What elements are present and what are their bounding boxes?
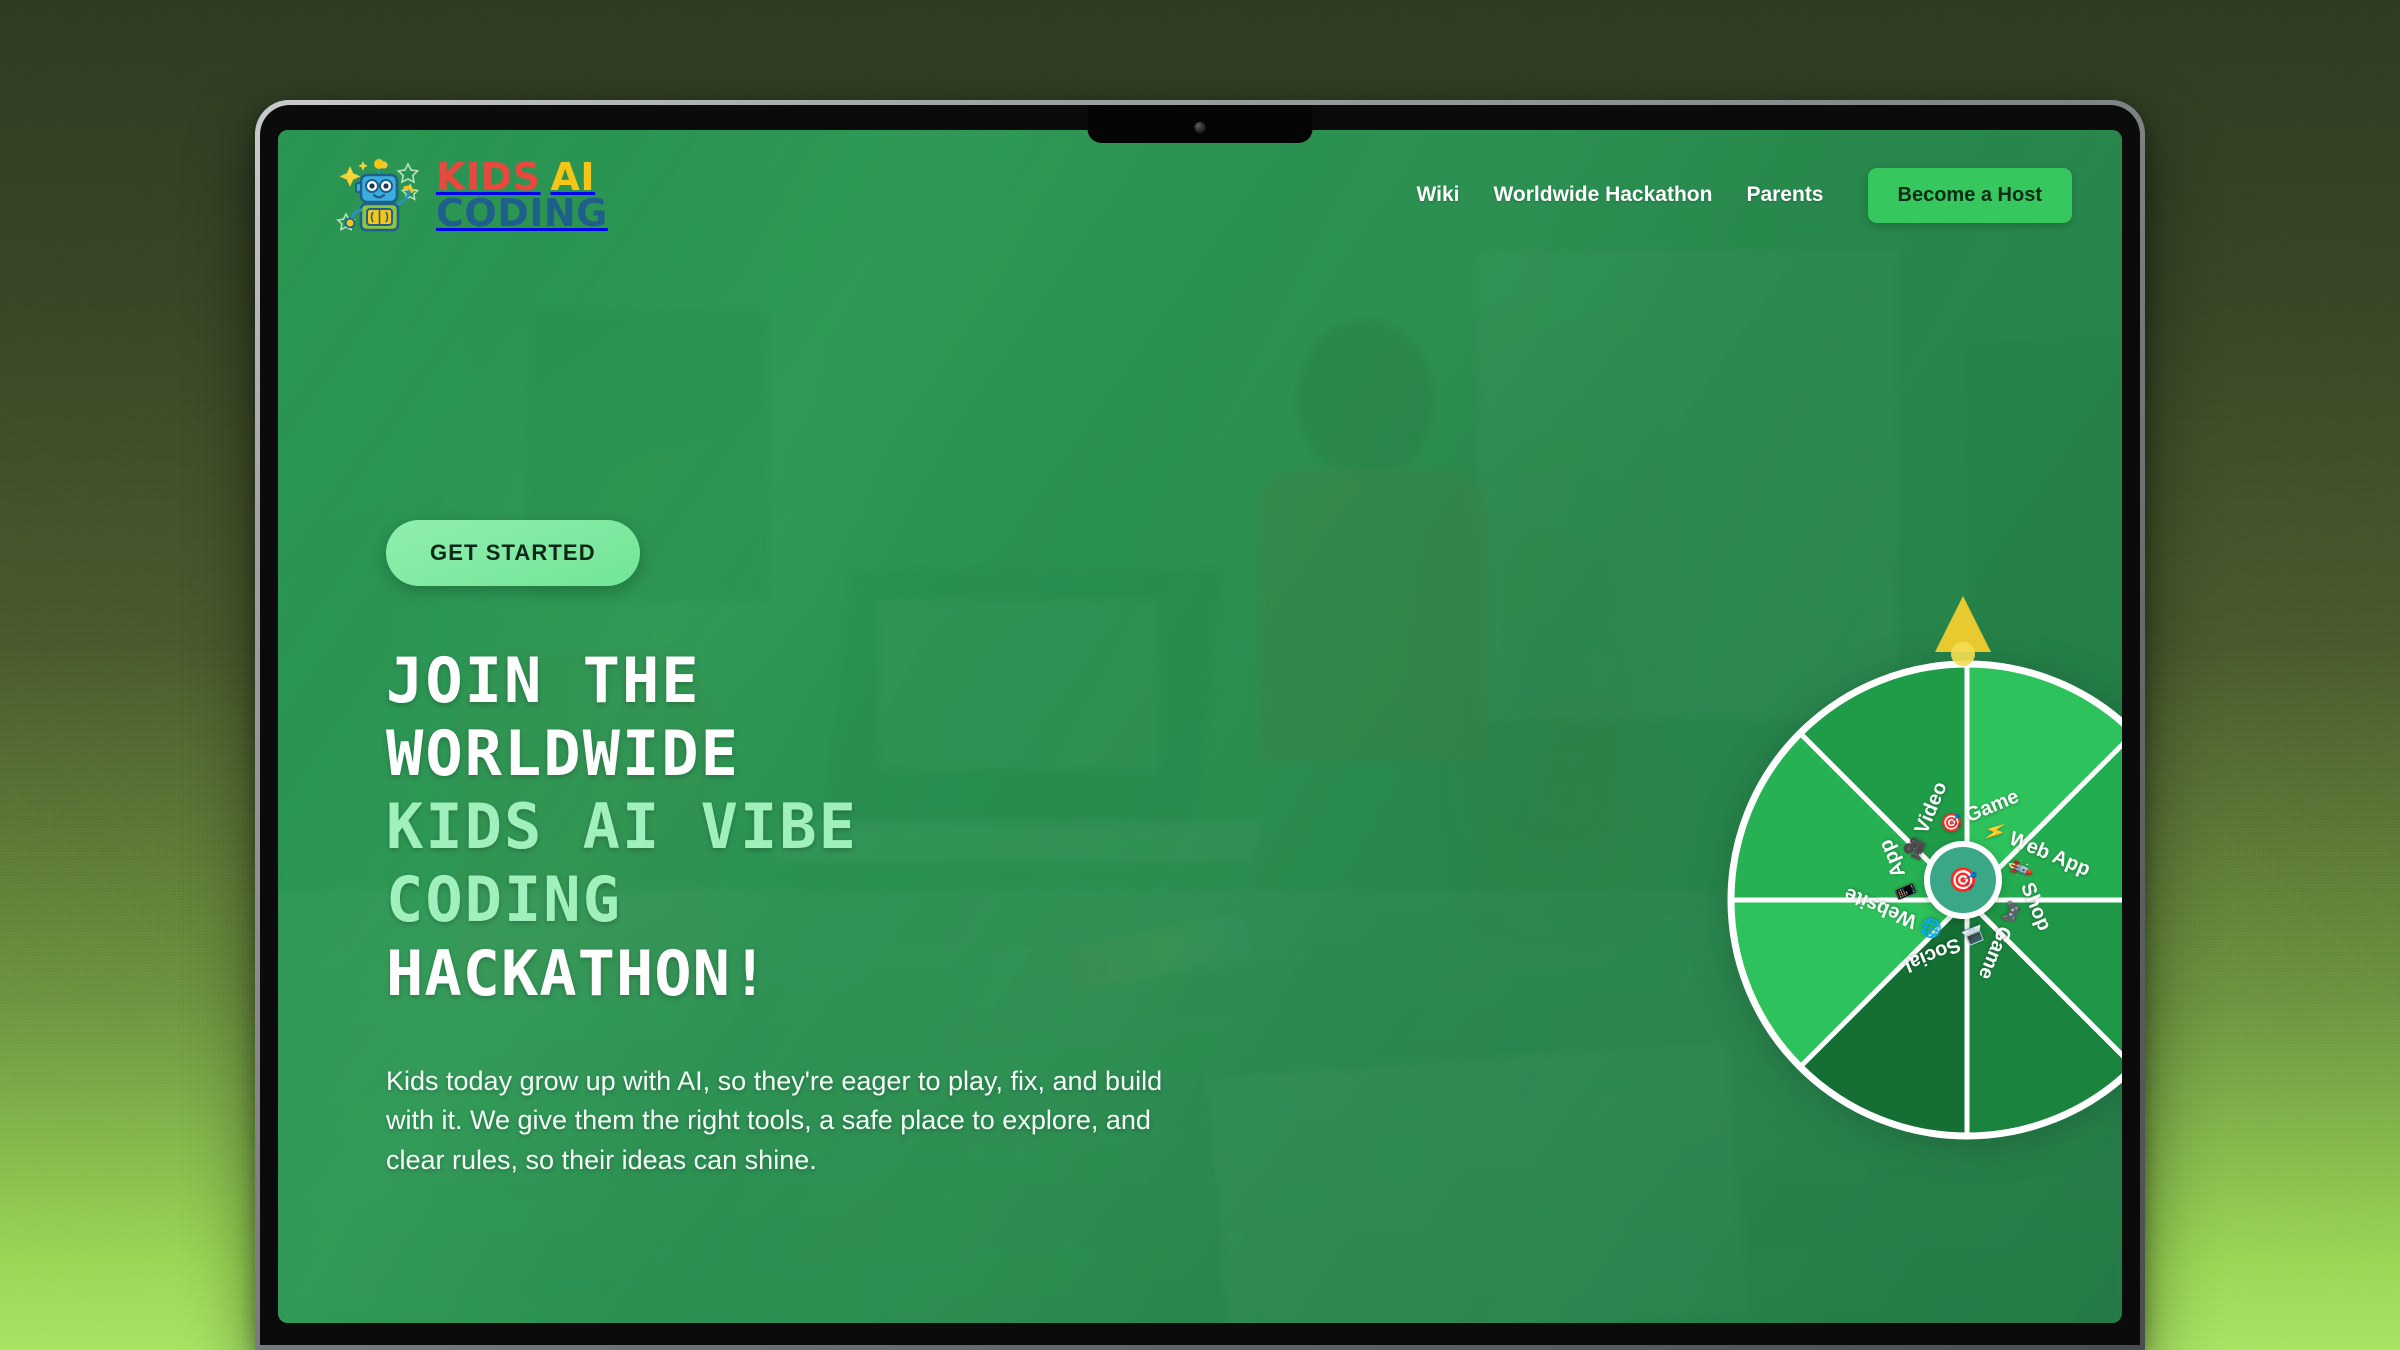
hero-content: GET STARTED JOIN THE WORLDWIDE KIDS AI V… [386, 520, 1246, 1181]
site-header: KIDSAI CODING Wiki Worldwide Hackathon P… [278, 130, 2122, 260]
logo-line-two: CODING [436, 195, 608, 231]
headline-line-5: HACKATHON! [386, 937, 1246, 1010]
webcam-icon [1195, 122, 1206, 133]
laptop-bezel: KIDSAI CODING Wiki Worldwide Hackathon P… [260, 105, 2140, 1345]
nav-item-wiki[interactable]: Wiki [1416, 183, 1459, 207]
logo-line-one: KIDSAI [436, 159, 608, 195]
hero-paragraph: Kids today grow up with AI, so they're e… [386, 1062, 1186, 1181]
nav-item-parents[interactable]: Parents [1746, 183, 1823, 207]
logo-wordmark: KIDSAI CODING [436, 159, 608, 232]
site-logo[interactable]: KIDSAI CODING [336, 152, 608, 238]
headline-line-4: CODING [386, 863, 1246, 936]
spin-wheel[interactable]: 🎮Game💻Social🌐Website📱App🎥Video🎯Game⚡Web … [1703, 600, 2122, 1160]
nav-item-worldwide-hackathon[interactable]: Worldwide Hackathon [1493, 183, 1712, 207]
wheel-segments[interactable] [1725, 658, 2122, 1142]
main-navigation: Wiki Worldwide Hackathon Parents Become … [1416, 168, 2072, 223]
website-screen: KIDSAI CODING Wiki Worldwide Hackathon P… [278, 130, 2122, 1323]
laptop-frame: KIDSAI CODING Wiki Worldwide Hackathon P… [255, 100, 2145, 1350]
desktop-backdrop: KIDSAI CODING Wiki Worldwide Hackathon P… [0, 0, 2400, 1350]
logo-coding-text: CODING [436, 191, 608, 235]
wheel-hub[interactable]: 🎯 [1924, 841, 2002, 919]
get-started-button[interactable]: GET STARTED [386, 520, 640, 586]
page-title: JOIN THE WORLDWIDE KIDS AI VIBE CODING H… [386, 644, 1246, 1010]
triangle-pointer-icon [1931, 592, 1995, 670]
headline-line-2: WORLDWIDE [386, 717, 1246, 790]
headline-line-1: JOIN THE [386, 644, 1246, 717]
headline-line-3: KIDS AI VIBE [386, 790, 1246, 863]
robot-mascot-icon [336, 152, 422, 238]
become-a-host-button[interactable]: Become a Host [1868, 168, 2073, 223]
